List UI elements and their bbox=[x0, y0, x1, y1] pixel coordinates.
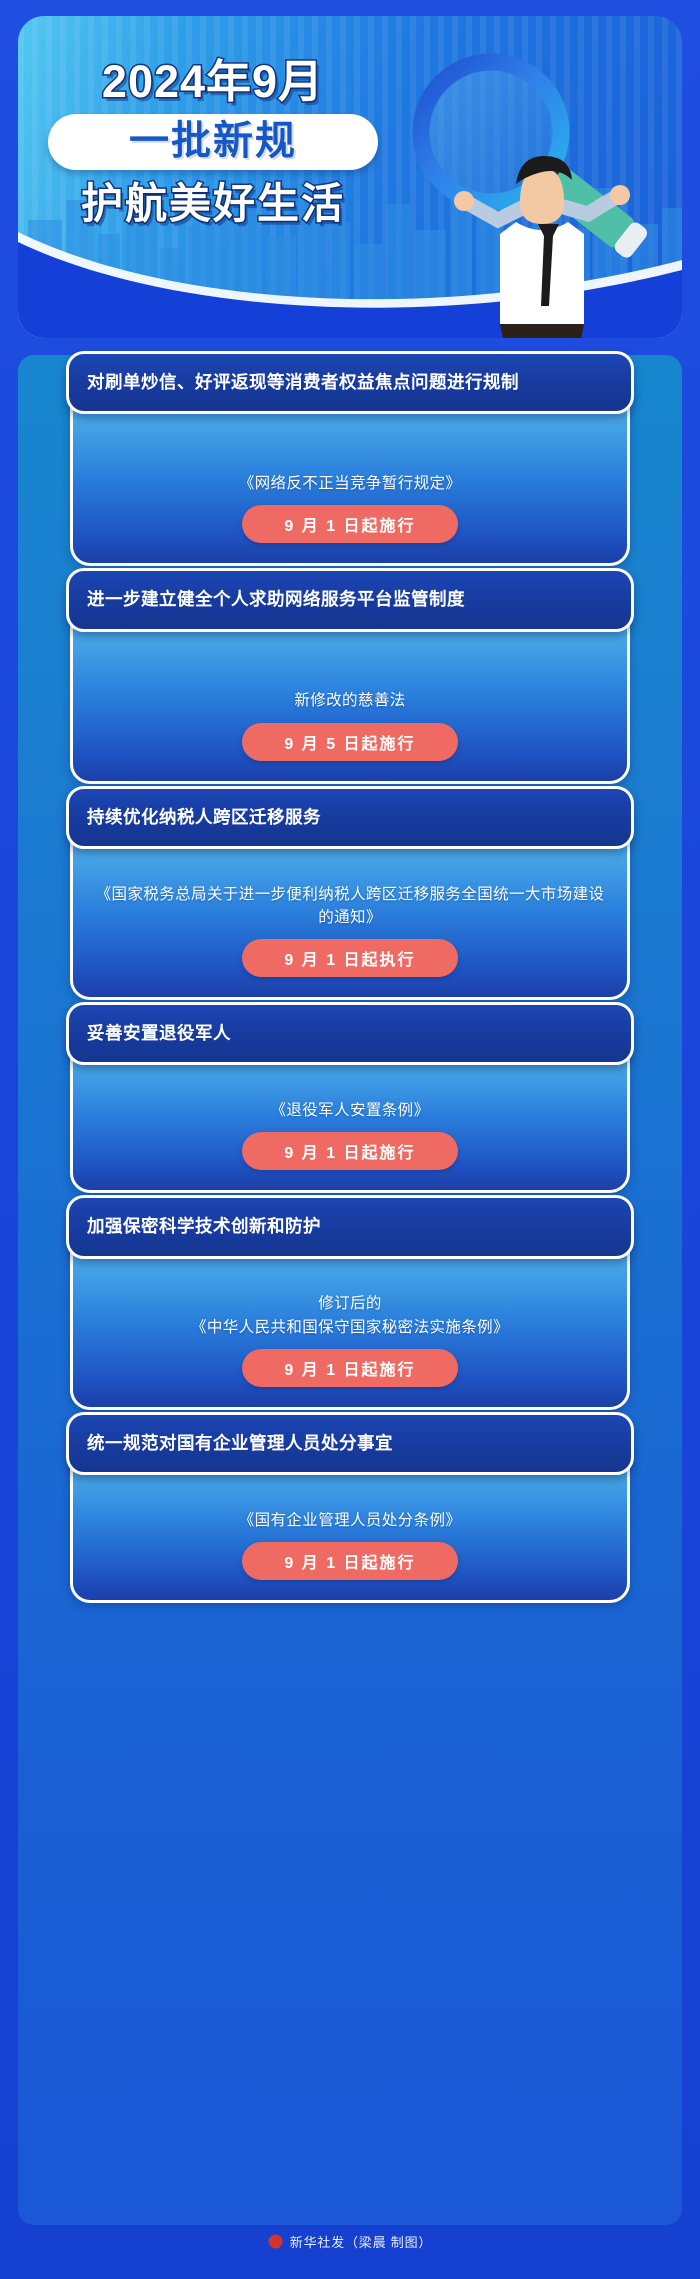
rule-card-title: 加强保密科学技术创新和防护 bbox=[66, 1195, 634, 1258]
rule-card[interactable]: 持续优化纳税人跨区迁移服务 《国家税务总局关于进一步便利纳税人跨区迁移服务全国统… bbox=[70, 808, 630, 1001]
rule-card-law: 《国有企业管理人员处分条例》 bbox=[95, 1509, 605, 1532]
rule-card-title: 统一规范对国有企业管理人员处分事宜 bbox=[66, 1412, 634, 1475]
hero-title-new-rules: 一批新规 bbox=[62, 119, 364, 163]
rule-card-effective-badge: 9 月 1 日起施行 bbox=[242, 1132, 457, 1170]
footer-credit-text: 新华社发（梁晨 制图） bbox=[290, 2232, 432, 2251]
rule-card[interactable]: 加强保密科学技术创新和防护 修订后的 《中华人民共和国保守国家秘密法实施条例》 … bbox=[70, 1217, 630, 1410]
rules-panel: 对刷单炒信、好评返现等消费者权益焦点问题进行规制 《网络反不正当竞争暂行规定》 … bbox=[18, 355, 682, 2225]
rule-card-effective-badge: 9 月 1 日起施行 bbox=[242, 505, 457, 543]
rule-card[interactable]: 进一步建立健全个人求助网络服务平台监管制度 新修改的慈善法 9 月 5 日起施行 bbox=[70, 590, 630, 783]
rule-card-title: 对刷单炒信、好评返现等消费者权益焦点问题进行规制 bbox=[66, 351, 634, 414]
xinhua-logo-icon bbox=[268, 2234, 283, 2249]
rule-card[interactable]: 妥善安置退役军人 《退役军人安置条例》 9 月 1 日起施行 bbox=[70, 1024, 630, 1193]
hero-title-pill: 一批新规 bbox=[48, 114, 378, 170]
rule-card-law: 《退役军人安置条例》 bbox=[95, 1099, 605, 1122]
rule-card-title: 进一步建立健全个人求助网络服务平台监管制度 bbox=[66, 568, 634, 631]
rule-card-effective-badge: 9 月 1 日起施行 bbox=[242, 1542, 457, 1580]
man-holding-magnifier-illustration bbox=[388, 24, 682, 338]
rule-card-law: 《网络反不正当竞争暂行规定》 bbox=[95, 472, 605, 495]
rule-card-effective-badge: 9 月 1 日起执行 bbox=[242, 939, 457, 977]
rule-card-law: 新修改的慈善法 bbox=[95, 689, 605, 712]
hero-title-slogan: 护航美好生活 bbox=[48, 181, 378, 226]
rule-card-law: 《国家税务总局关于进一步便利纳税人跨区迁移服务全国统一大市场建设的通知》 bbox=[95, 883, 605, 930]
rule-card-effective-badge: 9 月 5 日起施行 bbox=[242, 723, 457, 761]
hero-banner: 2024年9月 一批新规 护航美好生活 bbox=[18, 16, 682, 338]
rule-card-title: 持续优化纳税人跨区迁移服务 bbox=[66, 786, 634, 849]
hero-title-block: 2024年9月 一批新规 护航美好生活 bbox=[48, 58, 378, 227]
rule-card[interactable]: 对刷单炒信、好评返现等消费者权益焦点问题进行规制 《网络反不正当竞争暂行规定》 … bbox=[70, 373, 630, 566]
footer-credit: 新华社发（梁晨 制图） bbox=[0, 2232, 700, 2251]
rule-card-title: 妥善安置退役军人 bbox=[66, 1002, 634, 1065]
rule-card[interactable]: 统一规范对国有企业管理人员处分事宜 《国有企业管理人员处分条例》 9 月 1 日… bbox=[70, 1434, 630, 1603]
rule-card-law: 修订后的 《中华人民共和国保守国家秘密法实施条例》 bbox=[95, 1292, 605, 1339]
infographic-poster: 2024年9月 一批新规 护航美好生活 对刷单炒信、好评返现等消费者权益焦点问题… bbox=[0, 0, 700, 2279]
rule-card-effective-badge: 9 月 1 日起施行 bbox=[242, 1349, 457, 1387]
hero-title-year-month: 2024年9月 bbox=[48, 58, 378, 105]
